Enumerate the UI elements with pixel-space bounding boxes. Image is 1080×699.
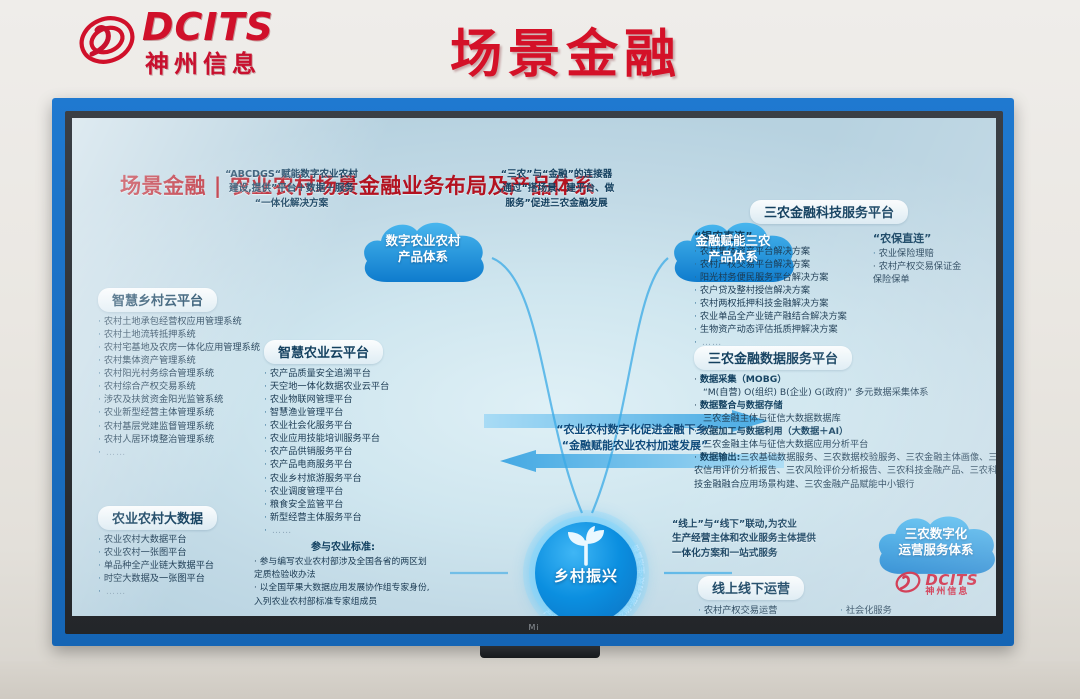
panel-operations-col2: 社会化服务 林权交易运营 线下金融服务 …… xyxy=(840,604,901,616)
callout-left-line2: 建设,提供”平台＋数据＋服务 xyxy=(184,182,399,196)
tv-display-frame: Mi 场景金融 | 农业农村场景金融业务布局及产品体系 “ABCDGS“赋能数字… xyxy=(52,98,1014,646)
list-item: 农村两权抵押科技金融解决方案 xyxy=(694,297,847,310)
callout-right-line3: 服务”促进三农金融发展 xyxy=(454,197,659,211)
callout-right-line2: ,通过“搭场景、建平台、做 xyxy=(454,182,659,196)
slide-watermark-logo: DCITS 神州信息 xyxy=(895,570,978,600)
wall-header: DCITS 神州信息 场景金融 xyxy=(0,0,1080,100)
list-ellipsis: …… xyxy=(98,585,217,598)
panel-smart-village-list: 农村土地承包经营权应用管理系统 农村土地流转抵押系统 农村宅基地及农房一体化应用… xyxy=(98,315,260,459)
list-item: 农村产权交易运营 xyxy=(698,604,814,616)
list-item: 农村综合产权交易系统 xyxy=(98,380,260,393)
cloud-left-label: 数字农业农村 产品体系 xyxy=(385,233,460,266)
list-item: 农业物联网管理平台 xyxy=(264,393,389,406)
dcits-swirl-icon-small xyxy=(895,570,921,600)
company-logo: DCITS 神州信息 xyxy=(78,8,274,76)
slide-logo-cn: 神州信息 xyxy=(925,588,978,598)
list-item: 农产品质量安全追溯平台 xyxy=(264,367,389,380)
panel-standards-title: 参与农业标准: xyxy=(254,538,432,553)
list-item: 农业乡村旅游服务平台 xyxy=(264,472,389,485)
cloud-left-line2: 产品体系 xyxy=(398,249,448,264)
list-item: 农业农村一张图平台 xyxy=(98,546,217,559)
list-item: 农业应用技能培训服务平台 xyxy=(264,432,389,445)
sprout-icon xyxy=(564,526,608,566)
tv-brand-label: Mi xyxy=(528,623,539,632)
list-item: 农村阳光村务综合管理系统 xyxy=(98,367,260,380)
slide-logo-text: DCITS 神州信息 xyxy=(925,572,978,598)
list-item: 农产品电商服务平台 xyxy=(264,458,389,471)
callout-bottom-line1: “线上”与“线下”联动,为农业 xyxy=(672,518,882,532)
panel-bigdata-title: 农业农村大数据 xyxy=(98,506,217,530)
list-item-sub: “M(自营) O(组织) B(企业) G(政府)” 多元数据采集体系 xyxy=(703,386,996,399)
panel-smart-agri-title: 智慧农业云平台 xyxy=(264,340,383,364)
callout-bottom-line3: 一体化方案和一站式服务 xyxy=(672,547,882,561)
slide-logo-en: DCITS xyxy=(925,572,978,589)
panel-operations-title: 线上线下运营 xyxy=(698,576,804,600)
panel-bigdata-list: 农业农村大数据平台 农业农村一张图平台 单品种全产业链大数据平台 时空大数据及一… xyxy=(98,533,217,598)
list-item: 天空地一体化数据农业云平台 xyxy=(264,380,389,393)
list-item-text: 参与编写农业农村部涉及全国各省的两区划定质检验收办法 xyxy=(254,557,427,580)
cloud-right-label: 金融赋能三农 产品体系 xyxy=(695,233,770,266)
panel-smart-agri-list: 农产品质量安全追溯平台 天空地一体化数据农业云平台 农业物联网管理平台 智慧渔业… xyxy=(264,367,389,537)
company-logo-text: DCITS 神州信息 xyxy=(142,8,274,76)
list-ellipsis: …… xyxy=(264,524,389,537)
arrow-text-line2: “金融赋能农业农村加速发展” xyxy=(504,438,766,454)
list-item: 涉农及扶贫资金阳光监管系统 xyxy=(98,393,260,406)
list-ellipsis: …… xyxy=(98,446,260,459)
center-label: 乡村振兴 xyxy=(521,565,651,586)
list-item: 农村土地承包经营权应用管理系统 xyxy=(98,315,260,328)
panel-smart-village-title: 智慧乡村云平台 xyxy=(98,288,217,312)
list-item: 农村基层党建监督管理系统 xyxy=(98,420,260,433)
list-item: 农业单品全产业链产融结合解决方案 xyxy=(694,310,847,323)
list-item: 粮食安全监管平台 xyxy=(264,498,389,511)
panel-smart-village-cloud: 智慧乡村云平台 农村土地承包经营权应用管理系统 农村土地流转抵押系统 农村宅基地… xyxy=(98,288,260,459)
tv-bezel: Mi 场景金融 | 农业农村场景金融业务布局及产品体系 “ABCDGS“赋能数字… xyxy=(65,111,1003,634)
company-logo-cn: 神州信息 xyxy=(145,52,274,76)
callout-left-line3: “一体化解决方案 xyxy=(184,197,399,211)
list-item: 智慧渔业管理平台 xyxy=(264,406,389,419)
cloud-left-line1: 数字农业农村 xyxy=(385,233,460,248)
callout-right-line1: “三农”与“金融”的连接器 xyxy=(454,168,659,182)
callout-bottom-line2: 生产经营主体和农业服务主体提供 xyxy=(672,532,882,546)
arrow-band-text: “农业农村数字化促进金融下乡” “金融赋能农业农村加速发展” xyxy=(504,422,766,454)
list-item: · 参与编写农业农村部涉及全国各省的两区划定质检验收办法 xyxy=(254,556,432,582)
callout-left-line1: “ABCDGS“赋能数字农业农村 xyxy=(184,168,399,182)
list-item: · 农村产权交易保证金保险保单 xyxy=(873,260,969,286)
panel-agri-bigdata: 农业农村大数据 农业农村大数据平台 农业农村一张图平台 单品种全产业链大数据平台… xyxy=(98,506,217,598)
cloud-digital-agri-products: 数字农业农村 产品体系 xyxy=(357,214,489,286)
wall-title: 场景金融 xyxy=(450,12,682,87)
dcits-swirl-icon xyxy=(78,13,136,71)
panel-standards-list: · 参与编写农业农村部涉及全国各省的两区划定质检验收办法 · 以全国苹果大数据应… xyxy=(254,556,432,609)
tv-stand xyxy=(480,646,600,658)
panel-fintech-col2: “农保直连” 农业保险理赔 · 农村产权交易保证金保险保单 xyxy=(873,228,969,350)
list-item: 农业农村大数据平台 xyxy=(98,533,217,546)
center-rural-revitalization: 产业兴旺·生态宜居·乡风文明·治理有效·生活富裕 乡村振兴 xyxy=(521,508,651,616)
list-item: 农业调度管理平台 xyxy=(264,485,389,498)
panel-sannong-findata: 三农金融数据服务平台 · 数据采集（MOBG） “M(自营) O(组织) B(企… xyxy=(694,346,996,491)
list-item: 农村人居环境整治管理系统 xyxy=(98,433,260,446)
list-item: 农业社会化服务平台 xyxy=(264,419,389,432)
panel-operations-col1: 农村产权交易运营 三资三务运营 三资产交一体化运营 宅基地运营 xyxy=(698,604,814,616)
list-item: 农业新型经营主体管理系统 xyxy=(98,406,260,419)
list-item-sub: 三农基础数据服务、三农数据校验服务、三农金融主体画像、三农信用评价分析报告、三农… xyxy=(694,452,996,489)
panel-agri-standards: 参与农业标准: · 参与编写农业农村部涉及全国各省的两区划定质检验收办法 · 以… xyxy=(254,538,432,609)
list-item-lead: 数据采集（MOBG） xyxy=(700,374,787,385)
callout-bottom: “线上”与“线下”联动,为农业 生产经营主体和农业服务主体提供 一体化方案和一站… xyxy=(672,518,882,561)
list-item: 农村宅基地及农房一体化应用管理系统 xyxy=(98,341,260,354)
cloud-right-line1: 金融赋能三农 xyxy=(695,233,770,248)
list-item-text: 以全国苹果大数据应用发展协作组专家身份,入列农业农村部标准专家组成员 xyxy=(254,583,430,606)
list-item-lead: 数据整合与数据存储 xyxy=(700,400,783,411)
list-item: 农村集体资产管理系统 xyxy=(98,354,260,367)
panel-findata-title: 三农金融数据服务平台 xyxy=(694,346,852,370)
list-item: 新型经营主体服务平台 xyxy=(264,511,389,524)
list-item: 单品种全产业链大数据平台 xyxy=(98,559,217,572)
list-item: · 数据采集（MOBG） xyxy=(694,373,996,386)
arrow-text-line1: “农业农村数字化促进金融下乡” xyxy=(504,422,766,438)
cloud-right-line2: 产品体系 xyxy=(708,249,758,264)
cloud-digital-operations: 三农数字化 运营服务体系 xyxy=(872,508,996,578)
list-item: 社会化服务 xyxy=(840,604,901,616)
panel-fintech-col2-list: 农业保险理赔 · 农村产权交易保证金保险保单 xyxy=(873,247,969,286)
list-item: · 数据整合与数据存储 xyxy=(694,399,996,412)
panel-online-offline-operations: 线上线下运营 农村产权交易运营 三资三务运营 三资产交一体化运营 宅基地运营 社… xyxy=(698,576,901,616)
cloud-bottom-line2: 运营服务体系 xyxy=(898,542,973,557)
panel-fintech-title: 三农金融科技服务平台 xyxy=(750,200,908,224)
company-logo-en: DCITS xyxy=(142,8,274,46)
list-item: 农产品供销服务平台 xyxy=(264,445,389,458)
list-item-text: 农村产权交易保证金保险保单 xyxy=(873,261,962,285)
cloud-bottom-label: 三农数字化 运营服务体系 xyxy=(898,526,973,559)
list-item: · 数据输出:三农基础数据服务、三农数据校验服务、三农金融主体画像、三农信用评价… xyxy=(694,451,996,490)
panel-operations-columns: 农村产权交易运营 三资三务运营 三资产交一体化运营 宅基地运营 社会化服务 林权… xyxy=(698,604,901,616)
list-item: 生物资产动态评估抵质押解决方案 xyxy=(694,323,847,336)
list-item: · 以全国苹果大数据应用发展协作组专家身份,入列农业农村部标准专家组成员 xyxy=(254,582,432,608)
panel-smart-agriculture-cloud: 智慧农业云平台 农产品质量安全追溯平台 天空地一体化数据农业云平台 农业物联网管… xyxy=(264,340,389,537)
cloud-bottom-line1: 三农数字化 xyxy=(905,526,968,541)
list-item-lead: 数据输出: xyxy=(700,452,740,463)
list-item: 农业保险理赔 xyxy=(873,247,969,260)
callout-right: “三农”与“金融”的连接器 ,通过“搭场景、建平台、做 服务”促进三农金融发展 xyxy=(454,168,659,211)
list-item: 时空大数据及一张图平台 xyxy=(98,572,217,585)
list-item: 农村土地流转抵押系统 xyxy=(98,328,260,341)
list-item: 农户贷及整村授信解决方案 xyxy=(694,284,847,297)
list-item: 阳光村务便民服务平台解决方案 xyxy=(694,271,847,284)
presentation-slide: 场景金融 | 农业农村场景金融业务布局及产品体系 “ABCDGS“赋能数字农业农… xyxy=(72,118,996,616)
callout-left: “ABCDGS“赋能数字农业农村 建设,提供”平台＋数据＋服务 “一体化解决方案 xyxy=(184,168,399,211)
panel-sannong-fintech: 三农金融科技服务平台 “银农直连” 农村集体资产平台解决方案 农村产权交易平台解… xyxy=(694,200,969,350)
panel-fintech-col2-title: “农保直连” xyxy=(873,230,969,246)
